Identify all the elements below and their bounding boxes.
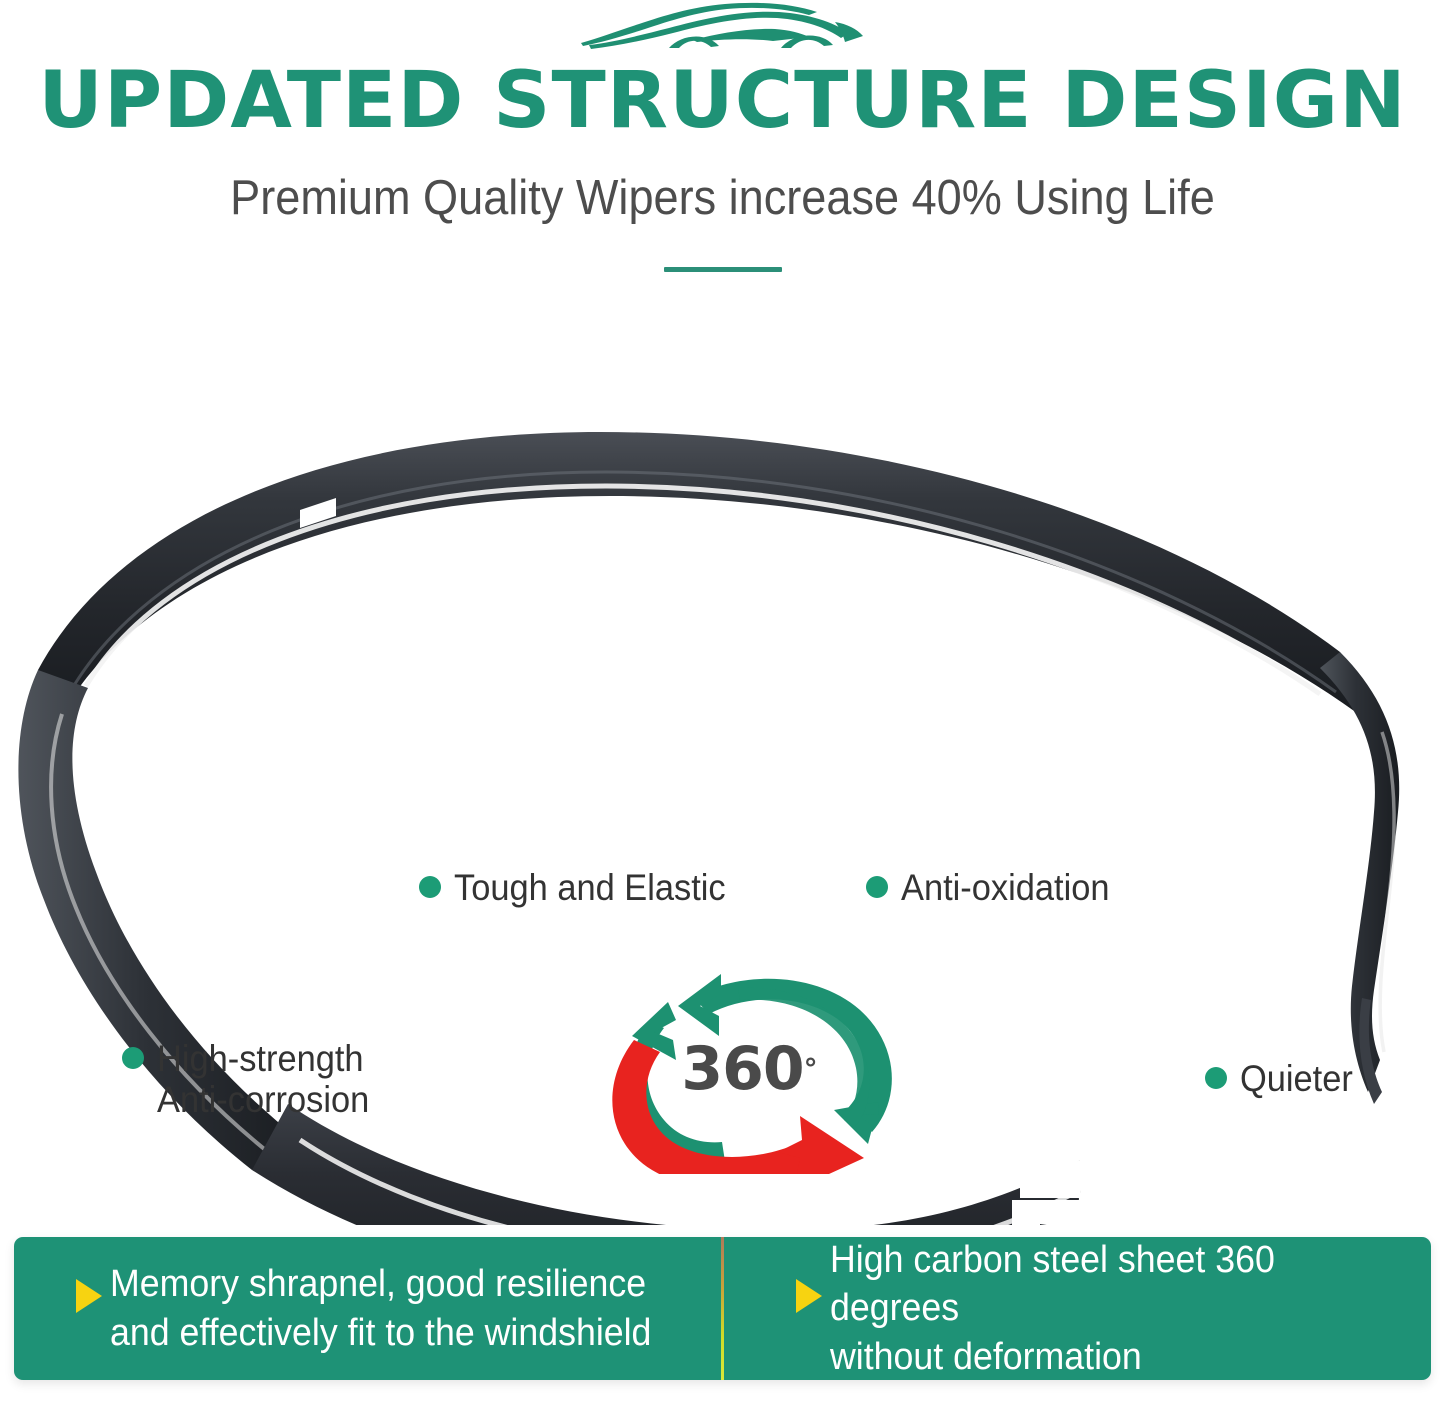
- page-subtitle: Premium Quality Wipers increase 40% Usin…: [58, 172, 1387, 226]
- bottom-feature-banner: Memory shrapnel, good resilience and eff…: [14, 1237, 1431, 1380]
- banner-item-text: Memory shrapnel, good resilience and eff…: [110, 1260, 651, 1357]
- play-triangle-icon: [796, 1279, 822, 1313]
- product-diagram-area: 360° Tough and Elastic Anti-oxidation Hi…: [0, 300, 1445, 1225]
- feature-callout-quieter: Quieter: [1205, 1058, 1361, 1099]
- band-right-tip: [1320, 652, 1399, 1104]
- feature-callout-anti-oxidation: Anti-oxidation: [866, 867, 1125, 908]
- banner-item-high-carbon-steel: High carbon steel sheet 360 degrees with…: [724, 1237, 1431, 1380]
- feature-callout-high-strength-anti-corrosion: High-strength Anti-corrosion: [122, 1038, 385, 1121]
- play-triangle-icon: [76, 1279, 102, 1313]
- bullet-dot-icon: [866, 876, 888, 898]
- header-section: UPDATED STRUCTURE DESIGN Premium Quality…: [0, 0, 1445, 300]
- title-underline-rule: [664, 267, 782, 272]
- band-top-arc: [38, 432, 1382, 732]
- bullet-dot-icon: [419, 876, 441, 898]
- bullet-dot-icon: [122, 1047, 144, 1069]
- 360-degree-badge: 360°: [572, 962, 922, 1174]
- banner-item-text: High carbon steel sheet 360 degrees with…: [830, 1237, 1395, 1380]
- feature-label: Anti-oxidation: [901, 867, 1109, 908]
- feature-callout-tough-and-elastic: Tough and Elastic: [419, 867, 746, 908]
- feature-label: High-strength Anti-corrosion: [157, 1038, 369, 1121]
- banner-item-memory-shrapnel: Memory shrapnel, good resilience and eff…: [14, 1237, 721, 1380]
- feature-label: Quieter: [1240, 1058, 1353, 1099]
- bullet-dot-icon: [1205, 1067, 1227, 1089]
- 360-rotation-arrows-icon: [572, 962, 922, 1174]
- feature-label: Tough and Elastic: [454, 867, 726, 908]
- page-title: UPDATED STRUCTURE DESIGN: [0, 62, 1445, 140]
- car-silhouette-logo-icon: [573, 2, 873, 62]
